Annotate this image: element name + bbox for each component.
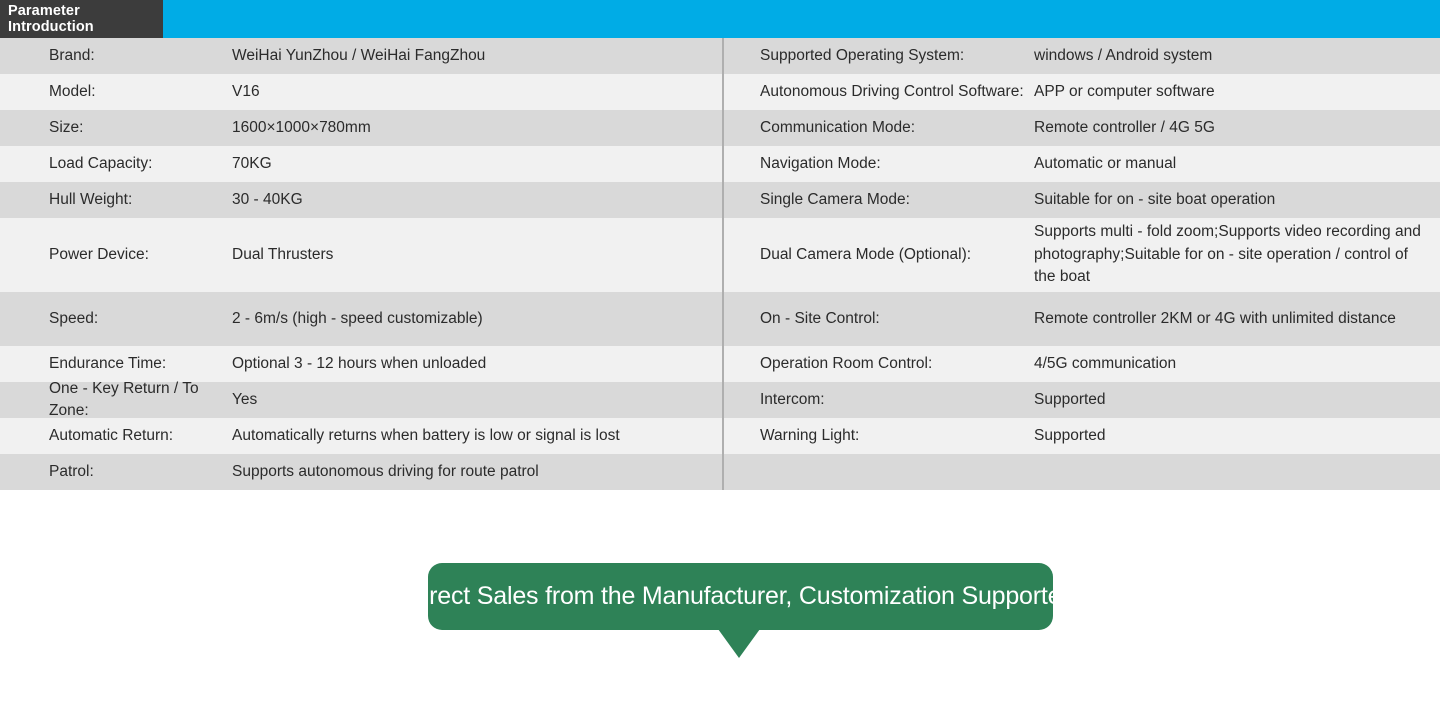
spec-label: Operation Room Control: [724,353,1034,375]
spec-value: 2 - 6m/s (high - speed customizable) [232,308,722,330]
table-row [724,454,1440,490]
table-row: Supported Operating System:windows / And… [724,38,1440,74]
spec-value: APP or computer software [1034,81,1440,103]
promo-banner: Direct Sales from the Manufacturer, Cust… [428,563,1053,630]
table-row: One - Key Return / To Zone:Yes [0,382,722,418]
spec-value: WeiHai YunZhou / WeiHai FangZhou [232,45,722,67]
header-bar: Parameter Introduction [0,0,1440,38]
promo-banner-text: Direct Sales from the Manufacturer, Cust… [406,582,1075,611]
spec-label: Size: [0,117,232,139]
spec-value: Supported [1034,389,1440,411]
spec-label: Speed: [0,308,232,330]
spec-label: Patrol: [0,461,232,483]
spec-value: Yes [232,389,722,411]
table-row: Patrol:Supports autonomous driving for r… [0,454,722,490]
spec-value: Automatic or manual [1034,153,1440,175]
spec-value: Remote controller / 4G 5G [1034,117,1440,139]
spec-label: Communication Mode: [724,117,1034,139]
table-row: Single Camera Mode:Suitable for on - sit… [724,182,1440,218]
table-row: Load Capacity:70KG [0,146,722,182]
spec-label: Brand: [0,45,232,67]
spec-label: Automatic Return: [0,425,232,447]
promo-banner-tail-icon [718,629,760,658]
table-row: Hull Weight:30 - 40KG [0,182,722,218]
spec-value: Optional 3 - 12 hours when unloaded [232,353,722,375]
spec-value: Supports multi - fold zoom;Supports vide… [1034,221,1440,288]
table-row: Autonomous Driving Control Software:APP … [724,74,1440,110]
spec-label: Model: [0,81,232,103]
table-row: Automatic Return:Automatically returns w… [0,418,722,454]
spec-label: Endurance Time: [0,353,232,375]
spec-value: Automatically returns when battery is lo… [232,425,722,447]
spec-label: Warning Light: [724,425,1034,447]
tab-parameter-introduction[interactable]: Parameter Introduction [0,0,163,38]
spec-label: Load Capacity: [0,153,232,175]
spec-label: Single Camera Mode: [724,189,1034,211]
spec-value: V16 [232,81,722,103]
spec-value: 70KG [232,153,722,175]
tab-label: Parameter Introduction [8,3,163,35]
spec-value: 4/5G communication [1034,353,1440,375]
spec-label: On - Site Control: [724,308,1034,330]
spec-value: 30 - 40KG [232,189,722,211]
spec-label: Hull Weight: [0,189,232,211]
table-row: Intercom:Supported [724,382,1440,418]
spec-value: Suitable for on - site boat operation [1034,189,1440,211]
spec-label: Power Device: [0,244,232,266]
table-row: Brand:WeiHai YunZhou / WeiHai FangZhou [0,38,722,74]
spec-value: Remote controller 2KM or 4G with unlimit… [1034,308,1440,330]
spec-value: Supports autonomous driving for route pa… [232,461,722,483]
spec-label: Autonomous Driving Control Software: [724,81,1034,103]
spec-column-left: Brand:WeiHai YunZhou / WeiHai FangZhouMo… [0,38,722,490]
spec-value: Dual Thrusters [232,244,722,266]
table-row: Navigation Mode:Automatic or manual [724,146,1440,182]
spec-value: Supported [1034,425,1440,447]
spec-column-right: Supported Operating System:windows / And… [722,38,1440,490]
table-row: Operation Room Control:4/5G communicatio… [724,346,1440,382]
spec-label: One - Key Return / To Zone: [0,378,232,423]
spec-label: Supported Operating System: [724,45,1034,67]
table-row: Power Device:Dual Thrusters [0,218,722,292]
table-row: Speed:2 - 6m/s (high - speed customizabl… [0,292,722,346]
table-row: Model:V16 [0,74,722,110]
spec-value: 1600×1000×780mm [232,117,722,139]
spec-value: windows / Android system [1034,45,1440,67]
specification-table: Brand:WeiHai YunZhou / WeiHai FangZhouMo… [0,38,1440,490]
spec-label: Navigation Mode: [724,153,1034,175]
spec-label: Dual Camera Mode (Optional): [724,244,1034,266]
table-row: On - Site Control:Remote controller 2KM … [724,292,1440,346]
spec-label: Intercom: [724,389,1034,411]
table-row: Dual Camera Mode (Optional):Supports mul… [724,218,1440,292]
table-row: Communication Mode:Remote controller / 4… [724,110,1440,146]
table-row: Size:1600×1000×780mm [0,110,722,146]
table-row: Warning Light:Supported [724,418,1440,454]
